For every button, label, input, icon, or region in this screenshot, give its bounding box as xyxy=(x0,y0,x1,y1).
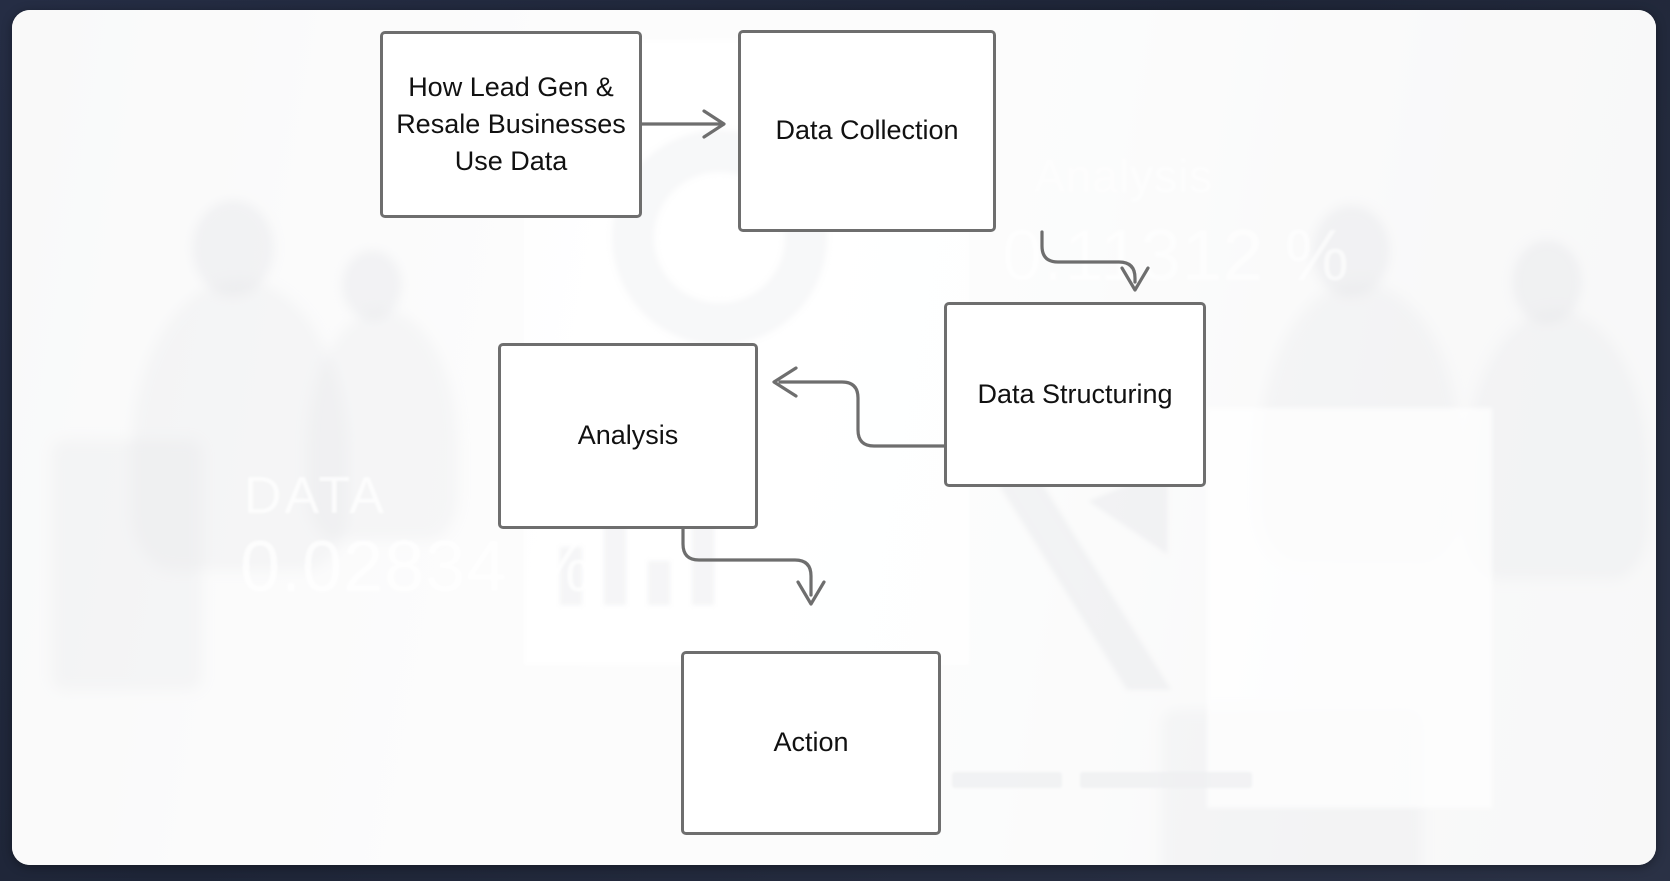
flow-node-data-structuring-label: Data Structuring xyxy=(977,376,1172,413)
edge-collection-to-structuring xyxy=(1042,232,1135,282)
flow-node-intro-label: How Lead Gen & Resale Businesses Use Dat… xyxy=(395,69,627,181)
flow-node-data-collection-label: Data Collection xyxy=(775,112,958,149)
edge-structuring-to-analysis xyxy=(780,382,944,446)
diagram-canvas[interactable]: DATA 0.02834 % Analysis 0.11312 % xyxy=(12,10,1656,865)
edge-analysis-to-action xyxy=(683,529,811,595)
flow-node-action-label: Action xyxy=(773,724,848,761)
flow-node-data-collection[interactable]: Data Collection xyxy=(738,30,996,232)
flow-node-action[interactable]: Action xyxy=(681,651,941,835)
flow-node-intro[interactable]: How Lead Gen & Resale Businesses Use Dat… xyxy=(380,31,642,218)
flow-node-data-structuring[interactable]: Data Structuring xyxy=(944,302,1206,487)
flow-node-analysis-label: Analysis xyxy=(578,417,679,454)
flow-node-analysis[interactable]: Analysis xyxy=(498,343,758,529)
flowchart: How Lead Gen & Resale Businesses Use Dat… xyxy=(12,10,1656,865)
app-frame: DATA 0.02834 % Analysis 0.11312 % xyxy=(0,0,1670,881)
